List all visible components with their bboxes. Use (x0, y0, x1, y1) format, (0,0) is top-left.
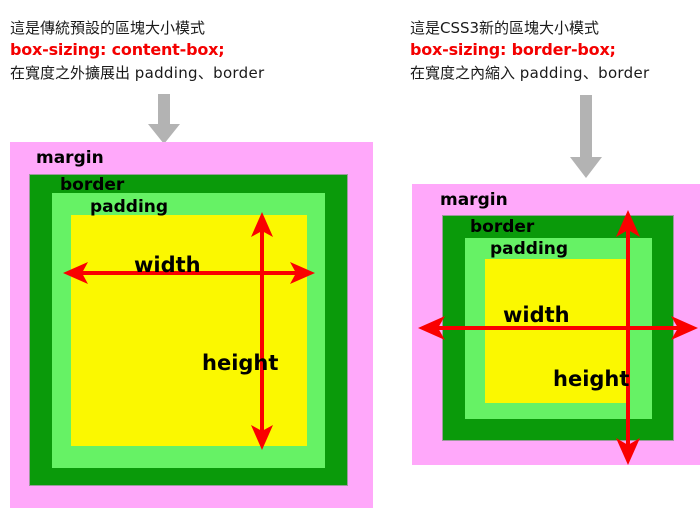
double-arrow-vertical-icon-right (616, 210, 640, 465)
height-label-left: height (202, 353, 278, 374)
height-label-right: height (553, 369, 629, 390)
dimension-arrows-right (0, 0, 700, 514)
width-label-right: width (503, 305, 570, 326)
width-label-left: width (134, 255, 201, 276)
